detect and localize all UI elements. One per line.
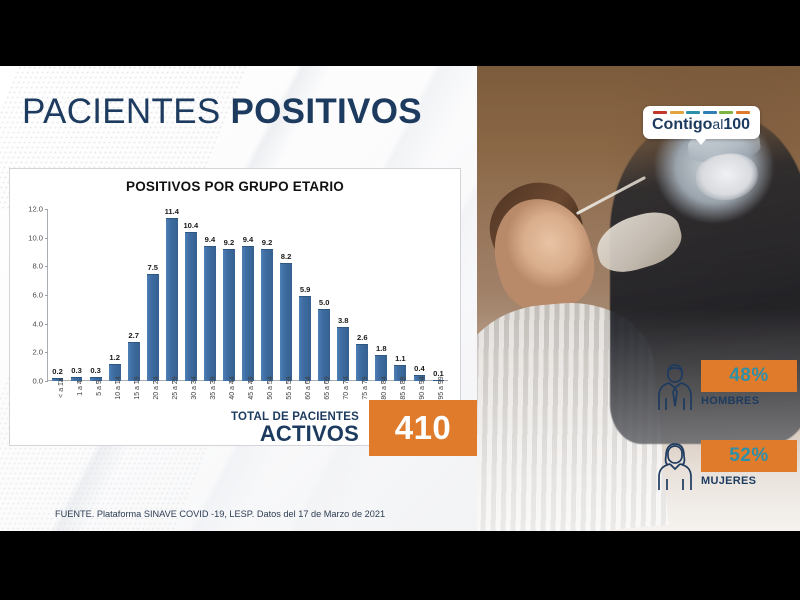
logo-wordmark: Contigoal100 [652, 117, 751, 133]
chart-x-tick-label: 10 a 14 [115, 376, 122, 399]
chart-x-tick-label: 75 a 79 [362, 376, 369, 399]
chart-y-tick-mark [45, 381, 48, 382]
chart-bar [166, 218, 178, 381]
chart-title: POSITIVOS POR GRUPO ETARIO [10, 179, 460, 194]
chart-bar-value-label: 5.0 [319, 298, 330, 307]
chart-x-tick-label: 20 a 24 [153, 376, 160, 399]
chart-bar-slot: 5.960 a 64 [296, 209, 315, 381]
logo-color-bar-1 [670, 111, 684, 114]
chart-y-tick: 6.0 [32, 291, 43, 300]
page-title-bold: POSITIVOS [231, 92, 422, 131]
chart-bar-slot: 0.195 a 99 [429, 209, 448, 381]
chart-bar-value-label: 0.2 [52, 367, 63, 376]
chart-bar-value-label: 9.4 [243, 235, 254, 244]
chart-bar-value-label: 2.7 [128, 331, 139, 340]
total-label-block: TOTAL DE PACIENTES ACTIVOS [231, 400, 369, 456]
chart-bar [337, 327, 349, 381]
chart-plot-area: 0.02.04.06.08.010.012.0 0.2< a 1a0.31 a … [48, 209, 448, 381]
chart-x-tick-label: 55 a 59 [286, 376, 293, 399]
chart-bar-slot: 1.210 a 14 [105, 209, 124, 381]
chart-bar-slot: 0.31 a 4 [67, 209, 86, 381]
chart-x-tick-label: 45 a 49 [248, 376, 255, 399]
page-title: PACIENTES POSITIVOS [22, 92, 422, 132]
chart-bar-slot: 9.250 a 54 [258, 209, 277, 381]
presentation-slide: PACIENTES POSITIVOS POSITIVOS POR GRUPO … [0, 66, 800, 531]
chart-y-tick: 8.0 [32, 262, 43, 271]
total-label-line2: ACTIVOS [260, 423, 359, 445]
screenshot-stage: PACIENTES POSITIVOS POSITIVOS POR GRUPO … [0, 0, 800, 600]
chart-bar-slot: 1.880 a 84 [372, 209, 391, 381]
logo-color-bar-3 [703, 111, 717, 114]
chart-x-tick-label: 35 a 39 [210, 376, 217, 399]
chart-bar-value-label: 0.4 [414, 364, 425, 373]
chart-bar [261, 249, 273, 381]
chart-bar-value-label: 3.8 [338, 316, 349, 325]
left-content-panel: PACIENTES POSITIVOS POSITIVOS POR GRUPO … [0, 66, 477, 531]
chart-bar [318, 309, 330, 381]
chart-bar-slot: 0.490 a 94 [410, 209, 429, 381]
logo-color-bar-0 [653, 111, 667, 114]
chart-x-tick-label: < a 1a [58, 378, 65, 398]
stat-hombres: 48% HOMBRES [655, 360, 797, 412]
total-value-box: 410 [369, 400, 477, 456]
chart-y-tick: 0.0 [32, 377, 43, 386]
chart-bar-value-label: 9.4 [205, 235, 216, 244]
chart-bar-slot: 10.430 a 34 [181, 209, 200, 381]
chart-bars-group: 0.2< a 1a0.31 a 40.35 a 91.210 a 142.715… [48, 209, 448, 381]
total-value: 410 [395, 409, 452, 447]
chart-bar-slot: 11.425 a 29 [162, 209, 181, 381]
male-avatar-icon [655, 360, 695, 412]
chart-bar-value-label: 0.3 [71, 366, 82, 375]
stat-mujeres-label: MUJERES [701, 475, 797, 487]
stat-mujeres-text: 52% MUJERES [695, 440, 797, 487]
chart-bar-slot: 7.520 a 24 [143, 209, 162, 381]
chart-bar [204, 246, 216, 381]
chart-x-tick-label: 25 a 29 [172, 376, 179, 399]
chart-bar-slot: 9.240 a 44 [219, 209, 238, 381]
chart-x-tick-label: 85 a 89 [400, 376, 407, 399]
chart-bar-slot: 5.065 a 69 [315, 209, 334, 381]
chart-y-tick: 2.0 [32, 348, 43, 357]
photo-panel: Contigoal100 [477, 66, 800, 531]
stat-hombres-bar: 48% [701, 360, 797, 392]
chart-bar-value-label: 5.9 [300, 285, 311, 294]
chart-bar-value-label: 1.8 [376, 344, 387, 353]
logo-word-contigo: Contigo [652, 116, 712, 133]
chart-bar-value-label: 0.3 [90, 366, 101, 375]
chart-y-tick: 10.0 [28, 233, 43, 242]
chart-bar-slot: 8.255 a 59 [277, 209, 296, 381]
chart-bar-value-label: 11.4 [165, 207, 179, 216]
chart-x-tick-label: 95 a 99 [438, 376, 445, 399]
chart-x-tick-label: 70 a 74 [343, 376, 350, 399]
page-title-light: PACIENTES [22, 92, 231, 131]
chart-bar-slot: 9.435 a 39 [200, 209, 219, 381]
stat-hombres-percent: 48% [729, 365, 769, 387]
stat-mujeres-percent: 52% [729, 445, 769, 467]
source-note: FUENTE. Plataforma SINAVE COVID -19, LES… [55, 509, 385, 519]
logo-word-100: 100 [723, 116, 750, 133]
chart-bar-value-label: 9.2 [224, 238, 235, 247]
chart-bar-value-label: 8.2 [281, 252, 292, 261]
stat-hombres-label: HOMBRES [701, 395, 797, 407]
chart-bar [299, 296, 311, 381]
chart-bar-value-label: 1.2 [109, 353, 120, 362]
chart-x-tick-label: 80 a 84 [381, 376, 388, 399]
contigo-al-100-logo: Contigoal100 [643, 106, 760, 139]
chart-x-tick-label: 1 a 4 [77, 380, 84, 396]
chart-bar [223, 249, 235, 381]
chart-bar-value-label: 1.1 [395, 354, 406, 363]
chart-bar [280, 263, 292, 381]
chart-x-tick-label: 30 a 34 [191, 376, 198, 399]
chart-x-tick-label: 5 a 9 [96, 380, 103, 396]
chart-x-tick-label: 65 a 69 [324, 376, 331, 399]
chart-bar-value-label: 2.6 [357, 333, 368, 342]
chart-bar-slot: 2.675 a 79 [353, 209, 372, 381]
chart-bar [128, 342, 140, 381]
chart-x-tick-label: 50 a 54 [267, 376, 274, 399]
logo-color-bars [652, 111, 751, 114]
chart-bar [242, 246, 254, 381]
logo-color-bar-5 [736, 111, 750, 114]
chart-y-tick: 12.0 [28, 205, 43, 214]
female-avatar-icon [655, 440, 695, 492]
chart-bar [185, 232, 197, 381]
logo-color-bar-4 [719, 111, 733, 114]
total-active-patients: TOTAL DE PACIENTES ACTIVOS 410 [231, 400, 477, 456]
chart-x-tick-label: 90 a 94 [419, 376, 426, 399]
chart-bar-value-label: 10.4 [183, 221, 198, 230]
stat-mujeres-bar: 52% [701, 440, 797, 472]
chart-bar-slot: 0.2< a 1a [48, 209, 67, 381]
stat-mujeres: 52% MUJERES [655, 440, 797, 492]
stat-hombres-text: 48% HOMBRES [695, 360, 797, 407]
chart-bar-slot: 3.870 a 74 [334, 209, 353, 381]
logo-color-bar-2 [686, 111, 700, 114]
chart-bar-slot: 9.445 a 49 [238, 209, 257, 381]
chart-bar-value-label: 7.5 [147, 263, 158, 272]
chart-bar-slot: 0.35 a 9 [86, 209, 105, 381]
chart-bar-slot: 2.715 a 19 [124, 209, 143, 381]
chart-bar [147, 274, 159, 382]
chart-bar-value-label: 9.2 [262, 238, 273, 247]
chart-x-tick-label: 40 a 44 [229, 376, 236, 399]
logo-word-al: al [712, 116, 723, 132]
chart-bar-slot: 1.185 a 89 [391, 209, 410, 381]
chart-x-tick-label: 15 a 19 [134, 376, 141, 399]
chart-x-tick-label: 60 a 64 [305, 376, 312, 399]
chart-y-tick: 4.0 [32, 319, 43, 328]
